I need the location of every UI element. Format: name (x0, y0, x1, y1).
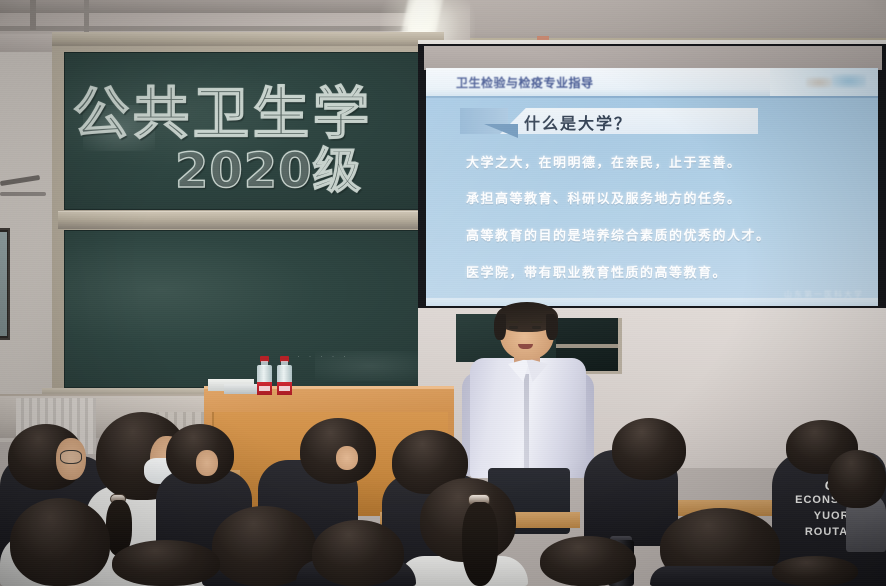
deco-shape-blue (832, 74, 866, 88)
slide-header-title: 卫生检验与检疫专业指导 (456, 74, 594, 91)
slide-body-line-4: 医学院，带有职业教育性质的高等教育。 (466, 262, 727, 281)
ponytail (462, 502, 498, 586)
ceiling-beam-secondary (0, 26, 408, 31)
lecture-hall-photo: 公共卫生学 2020级 · · · · · 卫生检验与 专业教育 卫生检验与检疫… (0, 0, 886, 586)
water-bottle (277, 356, 292, 396)
audience-member-head (312, 520, 404, 586)
speaker-hair-side-right (546, 314, 558, 340)
bottle-label (277, 382, 292, 395)
speaker-eyebrow-right (531, 321, 542, 323)
speaker-hair-side-left (494, 314, 506, 340)
slide-header-band: 卫生检验与检疫专业指导 (426, 68, 878, 96)
projector-screen-blank-top (424, 46, 882, 70)
ceiling-pipe (30, 0, 36, 30)
speaker-eye-left (509, 326, 518, 329)
blackboard-heading-line2: 2020级 (175, 131, 362, 201)
deco-shape-warm (806, 77, 832, 88)
audience-member-head (828, 450, 886, 508)
audience-member-head (772, 556, 858, 586)
audience-member-hand (196, 450, 218, 476)
ceiling-beam (0, 0, 420, 13)
blackboard-middle-rail (58, 211, 442, 229)
water-bottle (257, 356, 272, 396)
audience-member-head (540, 536, 636, 586)
bottle-label (257, 382, 272, 395)
audience-member-head (112, 540, 220, 586)
blackboard-residual-text: · · · · · (297, 351, 349, 361)
audience-member-hand (336, 446, 358, 470)
audience-member-torso (650, 566, 790, 586)
presentation-slide: 卫生检验与检疫专业指导 什么是大学？ 大学之大，在明明德，在亲民，止于至善。 承… (426, 68, 878, 306)
slide-body-line-3: 高等教育的目的是培养综合素质的优秀的人才。 (466, 225, 771, 244)
slide-title: 什么是大学？ (524, 110, 632, 134)
slide-header-divider (426, 96, 878, 98)
audience-member-head (10, 498, 110, 586)
blackboard-panel-lower: · · · · · 卫生检验与 专业教育 (64, 230, 436, 388)
slide-body-line-1: 大学之大，在明明德，在亲民，止于至善。 (466, 152, 742, 171)
wall-picture-glass (0, 232, 7, 336)
speaker-eyebrow-left (508, 321, 519, 323)
blackboard-panel-upper: 公共卫生学 2020级 (64, 52, 436, 210)
blackboard: 公共卫生学 2020级 · · · · · 卫生检验与 专业教育 (52, 46, 444, 394)
slide-body-line-2: 承担高等教育、科研以及服务地方的任务。 (466, 188, 742, 207)
speaker-shirt-placket (524, 374, 529, 470)
speaker-eye-right (532, 326, 541, 329)
audience-member-head (612, 418, 686, 480)
glasses-icon (60, 450, 82, 464)
slide-header-decoration-image (770, 68, 878, 96)
wall-conduit-secondary (0, 192, 46, 196)
